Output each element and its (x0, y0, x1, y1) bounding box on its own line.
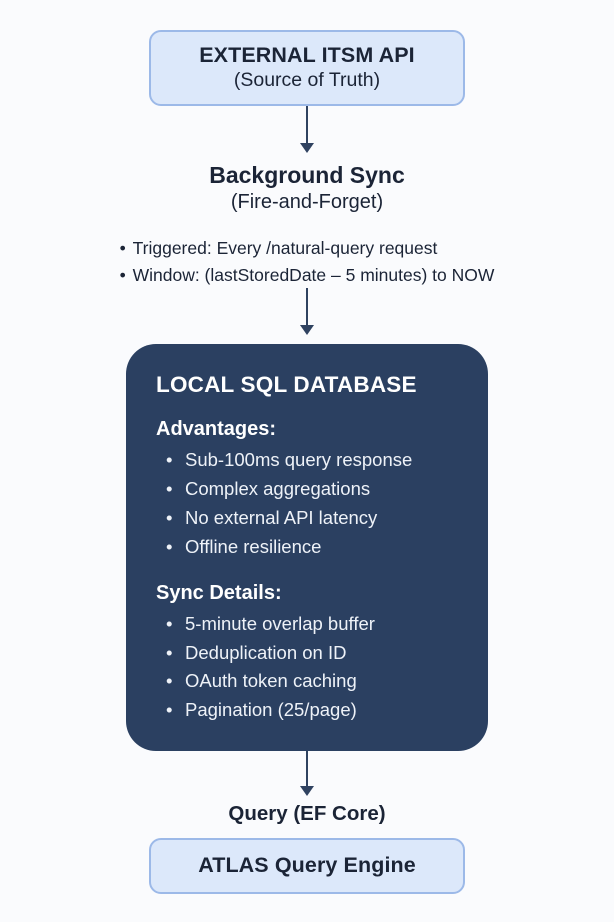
list-item-label: Triggered: Every /natural-query request (133, 235, 438, 262)
list-item: • 5-minute overlap buffer (156, 610, 458, 639)
bullet-dot-icon: • (120, 235, 133, 262)
arrow-shaft (306, 106, 308, 144)
background-sync-block: Background Sync (Fire-and-Forget) • Trig… (120, 161, 495, 288)
bullet-dot-icon: • (166, 533, 185, 562)
arrow-down-icon-sync-to-database (300, 288, 314, 335)
list-item-label: Complex aggregations (185, 475, 370, 504)
atlas-query-engine-title: ATLAS Query Engine (198, 853, 416, 878)
arrow-shaft (306, 751, 308, 787)
arrow-head (300, 786, 314, 796)
list-item-label: Sub-100ms query response (185, 446, 412, 475)
list-item: • Offline resilience (156, 533, 458, 562)
list-item: • No external API latency (156, 504, 458, 533)
list-item-label: 5-minute overlap buffer (185, 610, 375, 639)
list-item-label: Window: (lastStoredDate – 5 minutes) to … (133, 262, 495, 289)
sync-details-list: • 5-minute overlap buffer • Deduplicatio… (156, 610, 458, 725)
list-item: • OAuth token caching (156, 667, 458, 696)
list-item: • Deduplication on ID (156, 639, 458, 668)
query-ef-core-label: Query (EF Core) (228, 802, 385, 826)
list-item-label: Offline resilience (185, 533, 321, 562)
bullet-dot-icon: • (166, 446, 185, 475)
node-external-itsm-api: EXTERNAL ITSM API (Source of Truth) (149, 30, 465, 106)
list-item: • Sub-100ms query response (156, 446, 458, 475)
list-item-label: No external API latency (185, 504, 377, 533)
list-item-label: Pagination (25/page) (185, 696, 357, 725)
list-item: • Complex aggregations (156, 475, 458, 504)
arrow-head (300, 143, 314, 153)
bullet-dot-icon: • (166, 696, 185, 725)
background-sync-title: Background Sync (120, 161, 495, 189)
background-sync-bullet-list: • Triggered: Every /natural-query reques… (120, 235, 495, 288)
list-item-label: Deduplication on ID (185, 639, 346, 668)
arrow-shaft (306, 288, 308, 326)
bullet-dot-icon: • (166, 610, 185, 639)
node-atlas-query-engine: ATLAS Query Engine (149, 838, 465, 894)
bullet-dot-icon: • (166, 475, 185, 504)
bullet-dot-icon: • (166, 504, 185, 533)
sync-details-heading: Sync Details: (156, 582, 458, 605)
node-local-sql-database: LOCAL SQL DATABASE Advantages: • Sub-100… (126, 344, 488, 751)
arrow-head (300, 325, 314, 335)
arrow-down-icon-api-to-sync (300, 106, 314, 153)
list-item: • Triggered: Every /natural-query reques… (120, 235, 495, 262)
bullet-dot-icon: • (120, 262, 133, 289)
external-itsm-api-subtitle: (Source of Truth) (234, 68, 380, 92)
bullet-dot-icon: • (166, 667, 185, 696)
advantages-heading: Advantages: (156, 418, 458, 441)
advantages-list: • Sub-100ms query response • Complex agg… (156, 446, 458, 561)
list-item: • Pagination (25/page) (156, 696, 458, 725)
list-item-label: OAuth token caching (185, 667, 357, 696)
list-item: • Window: (lastStoredDate – 5 minutes) t… (120, 262, 495, 289)
local-sql-database-title: LOCAL SQL DATABASE (156, 372, 458, 398)
arrow-down-icon-database-to-engine (300, 751, 314, 796)
external-itsm-api-title: EXTERNAL ITSM API (199, 43, 415, 68)
background-sync-subtitle: (Fire-and-Forget) (120, 189, 495, 215)
architecture-diagram: EXTERNAL ITSM API (Source of Truth) Back… (0, 0, 614, 922)
bullet-dot-icon: • (166, 639, 185, 668)
